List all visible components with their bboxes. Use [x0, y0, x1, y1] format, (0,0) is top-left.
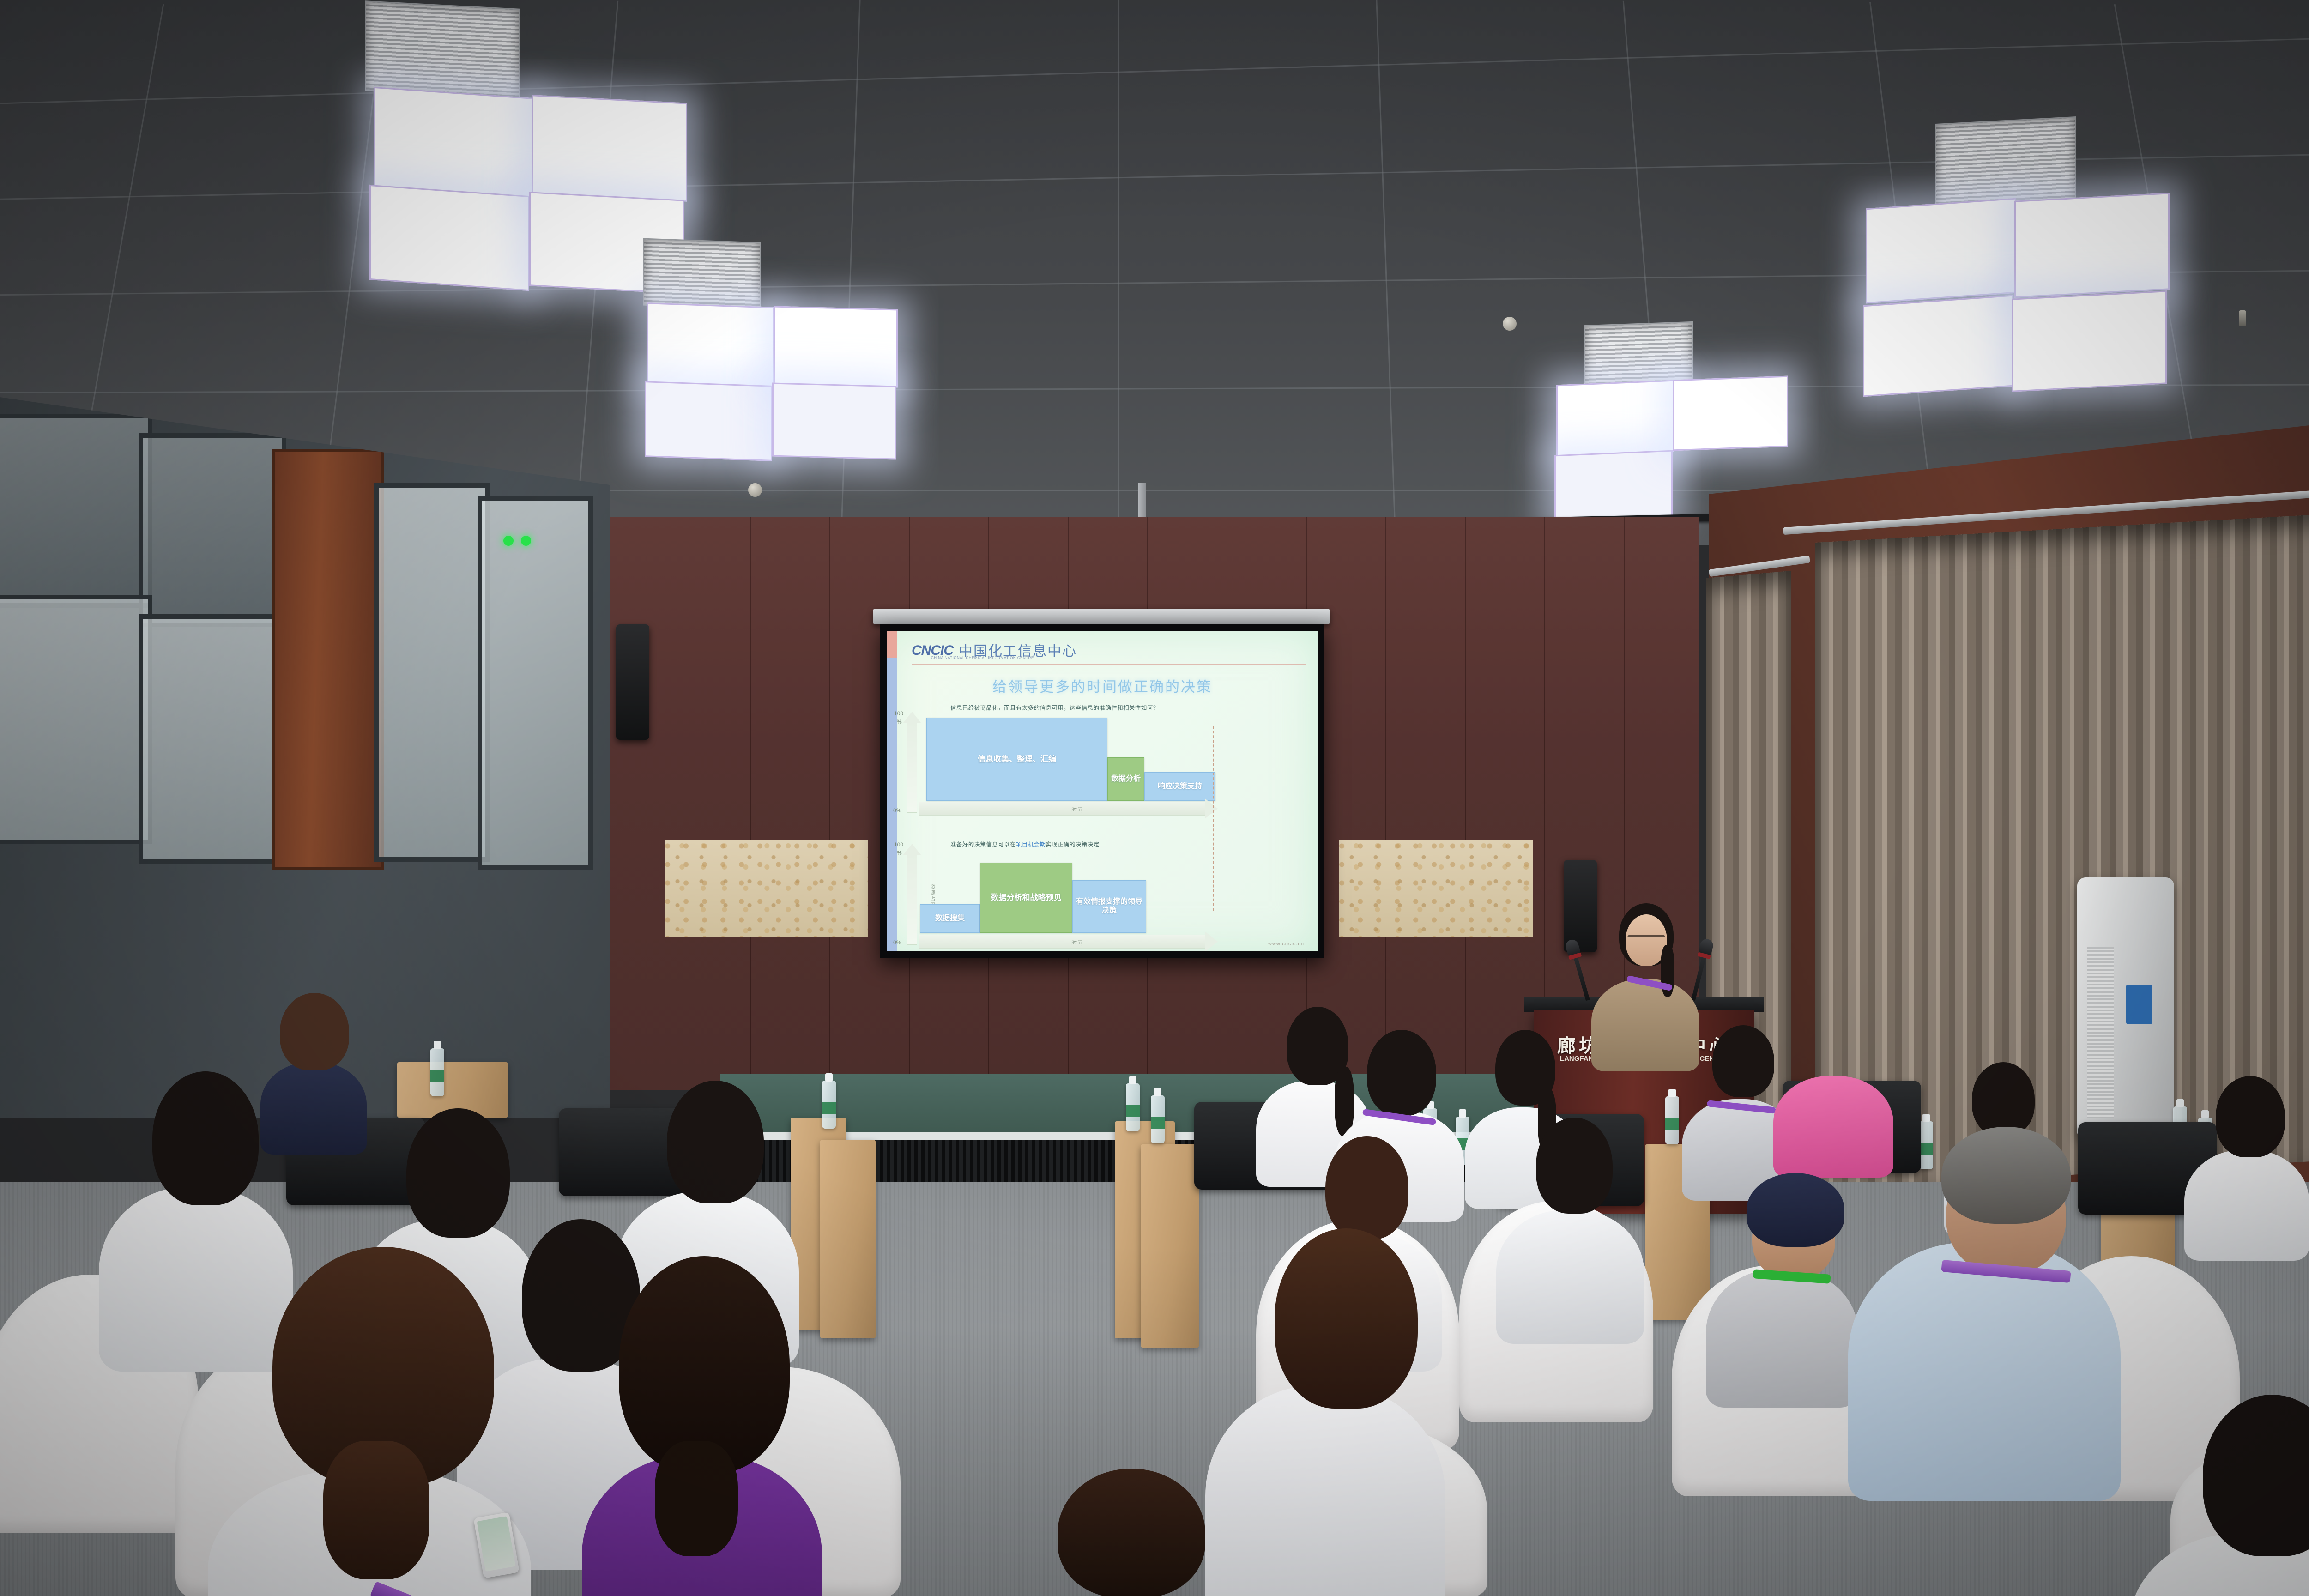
attendee-torso	[99, 1187, 293, 1372]
ceiling-light-panel	[645, 381, 772, 461]
presenter-torso	[1591, 979, 1699, 1071]
attendee-torso-pink	[1773, 1076, 1893, 1178]
glass-panel-frosted	[139, 614, 286, 864]
ceiling-light-panel	[1554, 450, 1673, 523]
air-diffuser-icon	[1935, 116, 2076, 210]
slide-header-rule	[912, 664, 1306, 665]
glass-panel-frosted	[374, 483, 490, 862]
slide-title: 给领导更多的时间做正确的决策	[887, 675, 1318, 696]
wall-cork-band-left	[665, 840, 868, 937]
chart-2-ytick-percent: %	[897, 850, 902, 856]
chart-2-bar-2: 有效情报支撑的领导决策	[1072, 880, 1146, 933]
chart-1-y-axis: 资源占用度	[907, 721, 917, 813]
ceiling-light-panel	[2014, 193, 2170, 298]
ceiling-light-panel	[1866, 198, 2016, 304]
air-diffuser-icon	[643, 238, 761, 310]
wall-cork-band-right	[1339, 840, 1533, 937]
chart-1-ytick-100: 100	[894, 710, 903, 717]
air-conditioner-icon	[2077, 877, 2174, 1136]
ceiling-light-panel	[1673, 376, 1788, 451]
attendee-hair	[667, 1081, 764, 1203]
wall-speaker-icon	[1564, 860, 1597, 952]
table-end	[1141, 1144, 1199, 1348]
attendee-torso	[260, 1062, 367, 1155]
presenter-glasses-icon	[1627, 935, 1665, 944]
attendee-hair	[406, 1108, 510, 1238]
ac-energy-label	[2126, 985, 2152, 1024]
chart-2-x-axis	[919, 935, 1206, 949]
smoke-detector-icon	[748, 483, 762, 497]
table-end	[820, 1140, 876, 1338]
ceiling-light-panel	[1863, 295, 2013, 397]
ceiling-light-panel	[647, 302, 774, 387]
glass-panel-frosted	[0, 595, 152, 844]
chart-2: 资源占用度 100 % 0% 数据搜集 数据分析和战略预见 有效情报支撑的领导决…	[887, 840, 1318, 951]
attendee-hair	[1058, 1469, 1205, 1596]
status-led-indicators	[503, 536, 531, 546]
chart-1-bar-0: 信息收集、整理、汇编	[926, 718, 1107, 801]
chart-2-x-axis-label: 时间	[1071, 939, 1083, 947]
chart-1: 资源占用度 100 % 0% 信息收集、整理、汇编 数据分析 响应决策支持 时间	[887, 709, 1318, 825]
attendee-gray-hair	[1941, 1127, 2071, 1224]
water-bottle-icon	[822, 1081, 836, 1129]
attendee-torso	[1706, 1269, 1858, 1408]
chart-1-ytick-0: 0%	[893, 807, 901, 814]
air-diffuser-icon	[1584, 321, 1693, 388]
water-bottle-icon	[1665, 1096, 1679, 1144]
ceiling-light-panel	[532, 95, 687, 202]
chart-2-y-axis: 资源占用度	[907, 853, 917, 945]
attendee-torso-blue-shirt	[1848, 1242, 2121, 1501]
ceiling-light-panel	[772, 382, 896, 459]
attendee-hair	[1367, 1030, 1436, 1116]
attendee-ponytail	[1335, 1067, 1354, 1136]
water-bottle-icon	[1919, 1121, 1933, 1169]
projection-screen: CNCIC 中国化工信息中心 CHINA NATIONAL CHEMICAL I…	[880, 624, 1324, 958]
attendee-torso	[2184, 1150, 2309, 1261]
attendee-hair	[152, 1071, 259, 1205]
ceiling-light-panel	[774, 306, 898, 387]
air-diffuser-icon	[365, 0, 520, 99]
chart-1-x-axis	[919, 802, 1206, 816]
attendee-hair	[1325, 1136, 1408, 1239]
ceiling-light-panel	[2012, 290, 2167, 392]
wall-speaker-icon	[616, 624, 649, 740]
sprinkler-icon	[2239, 310, 2246, 326]
attendee-hair	[1972, 1062, 2035, 1136]
attendee-torso	[1205, 1385, 1445, 1596]
logo-english-name: CHINA NATIONAL CHEMICAL INFORMATION CENT…	[931, 656, 1034, 660]
baseball-cap	[1747, 1173, 1844, 1247]
presentation-slide: CNCIC 中国化工信息中心 CHINA NATIONAL CHEMICAL I…	[887, 631, 1318, 951]
attendee-torso	[1496, 1210, 1644, 1344]
conference-room-photo: CNCIC 中国化工信息中心 CHINA NATIONAL CHEMICAL I…	[0, 0, 2309, 1596]
slide-accent-red	[887, 631, 897, 658]
green-led-icon	[521, 536, 531, 546]
chart-2-ytick-0: 0%	[893, 939, 901, 946]
chart-1-bar-1: 数据分析	[1107, 757, 1144, 801]
attendee-hair	[280, 993, 349, 1070]
water-bottle-icon	[1151, 1095, 1165, 1143]
ceiling-light-panel	[374, 87, 534, 198]
attendee-ponytail	[323, 1441, 429, 1579]
side-door[interactable]	[272, 449, 384, 870]
smoke-detector-icon	[1503, 317, 1517, 331]
attendee-hair	[1536, 1118, 1613, 1214]
chart-2-bar-1: 数据分析和战略预见	[980, 863, 1072, 933]
ceiling-light-panel	[1556, 380, 1674, 457]
water-bottle-icon	[430, 1048, 444, 1096]
green-led-icon	[503, 536, 514, 546]
glass-panel	[0, 414, 152, 608]
attendee-hair	[1275, 1228, 1418, 1409]
chart-1-ytick-percent: %	[897, 719, 902, 725]
attendee-hair	[2216, 1076, 2285, 1157]
attendee-ponytail	[655, 1441, 738, 1556]
chart-1-x-axis-label: 时间	[1071, 806, 1083, 814]
chart-2-ytick-100: 100	[894, 841, 903, 848]
water-bottle-icon	[1126, 1083, 1140, 1131]
chart-1-bar-2: 响应决策支持	[1144, 772, 1215, 801]
slide-footer-url: www.cncic.cn	[1268, 941, 1304, 947]
chart-2-bar-0: 数据搜集	[920, 904, 980, 933]
attendee-hair	[1712, 1025, 1774, 1097]
projection-screen-housing	[873, 609, 1330, 624]
ceiling-light-panel	[369, 185, 529, 291]
glass-panel-frosted	[478, 496, 593, 870]
glass-panel	[139, 433, 286, 627]
